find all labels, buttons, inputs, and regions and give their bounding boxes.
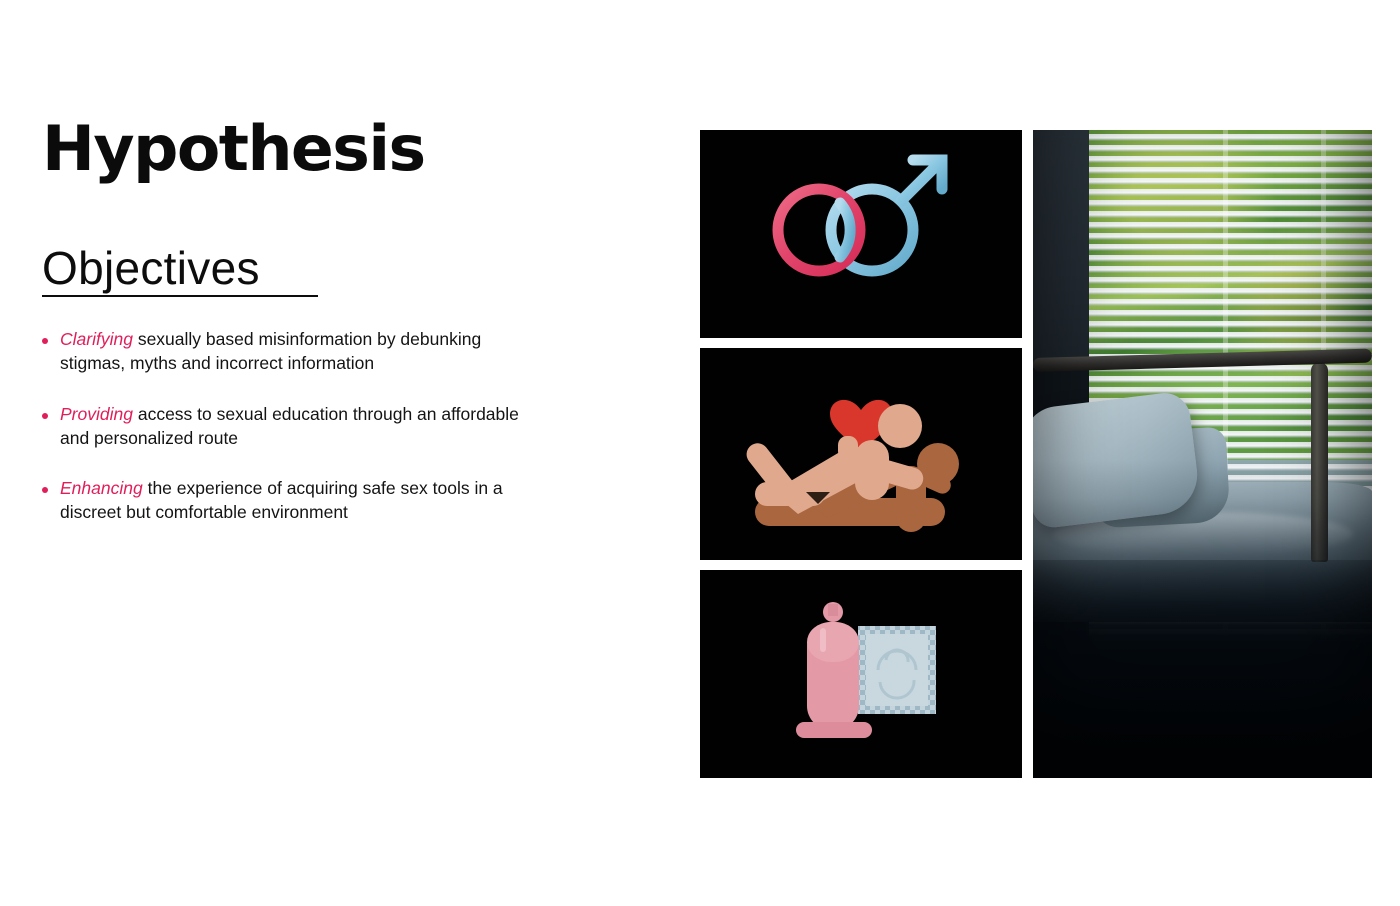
side-wall (1033, 130, 1089, 368)
condom-illustration-icon (700, 570, 1022, 778)
panel-couple-illustration (700, 348, 1022, 560)
text-column: Hypothesis Objectives Clarifying sexuall… (42, 118, 602, 550)
objective-lead: Clarifying (60, 329, 133, 349)
objective-text: Clarifying sexually based misinformation… (60, 327, 530, 375)
objective-text: Providing access to sexual education thr… (60, 402, 530, 450)
section-heading-group: Objectives (42, 244, 317, 297)
slide: Hypothesis Objectives Clarifying sexuall… (0, 0, 1400, 906)
bedroom-photo (1033, 130, 1372, 778)
media-grid (700, 130, 1372, 778)
bullet-dot-icon (42, 487, 48, 493)
section-heading-underline (42, 295, 318, 297)
page-title: Hypothesis (42, 118, 613, 180)
media-column-left (700, 130, 1022, 778)
section-heading: Objectives (42, 244, 317, 292)
bullet-dot-icon (42, 413, 48, 419)
photo-gradient (1033, 460, 1372, 778)
list-item: Clarifying sexually based misinformation… (42, 327, 602, 375)
list-item: Enhancing the experience of acquiring sa… (42, 476, 602, 524)
panel-gender-symbols (700, 130, 1022, 338)
objective-lead: Providing (60, 404, 133, 424)
panel-condom-illustration (700, 570, 1022, 778)
objective-text: Enhancing the experience of acquiring sa… (60, 476, 530, 524)
list-item: Providing access to sexual education thr… (42, 402, 602, 450)
objective-lead: Enhancing (60, 478, 143, 498)
gender-symbols-icon (700, 130, 1022, 338)
objectives-list: Clarifying sexually based misinformation… (42, 327, 602, 524)
media-column-right (1033, 130, 1372, 778)
couple-illustration-icon (700, 348, 1022, 560)
bullet-dot-icon (42, 338, 48, 344)
condom-wrapper (858, 626, 936, 714)
